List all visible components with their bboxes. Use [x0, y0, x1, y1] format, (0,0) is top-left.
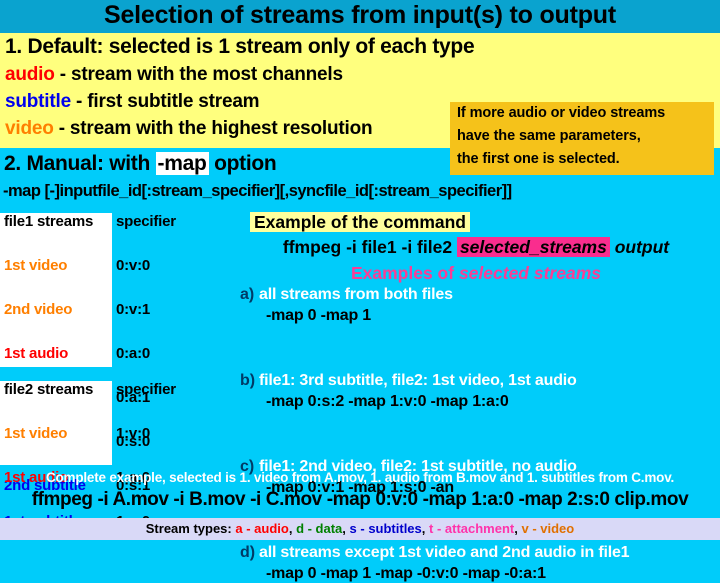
- keyword-subtitle: subtitle: [5, 91, 71, 112]
- file2-header-name: file2 streams: [4, 381, 93, 398]
- example-a-desc: all streams from both files: [259, 286, 453, 304]
- default-rule-subtitle: subtitle - first subtitle stream: [5, 91, 259, 113]
- tie-break-note-line-2: have the same parameters,: [457, 128, 641, 144]
- tie-break-note-line-1: If more audio or video streams: [457, 105, 665, 121]
- legend-sep-1: ,: [289, 521, 296, 536]
- slide-root: Selection of streams from input(s) to ou…: [0, 0, 720, 540]
- page-title: Selection of streams from input(s) to ou…: [0, 1, 720, 30]
- stream-types-legend: Stream types: a - audio, d - data, s - s…: [0, 518, 720, 540]
- file1-row-2-name: 1st audio: [4, 345, 68, 362]
- example-d-letter: d): [240, 544, 255, 562]
- default-rule-audio-text: - stream with the most channels: [55, 64, 343, 85]
- example-a-letter: a): [240, 286, 254, 304]
- file1-row-0-name: 1st video: [4, 257, 67, 274]
- example-d-desc: all streams except 1st video and 2nd aud…: [259, 544, 629, 562]
- manual-heading: 2. Manual: with -map option: [4, 152, 276, 176]
- legend-label: Stream types:: [146, 521, 232, 536]
- example-b-desc: file1: 3rd subtitle, file2: 1st video, 1…: [259, 372, 577, 390]
- example-b-map: -map 0:s:2 -map 1:v:0 -map 1:a:0: [266, 393, 509, 411]
- default-rule-audio: audio - stream with the most channels: [5, 64, 343, 86]
- legend-sep-2: ,: [342, 521, 349, 536]
- legend-item-video: v - video: [521, 521, 574, 536]
- keyword-audio: audio: [5, 64, 55, 85]
- manual-heading-post: option: [209, 152, 277, 175]
- default-heading: 1. Default: selected is 1 stream only of…: [5, 35, 474, 59]
- file1-row-1-spec: 0:v:1: [116, 301, 150, 318]
- example-a-map: -map 0 -map 1: [266, 307, 371, 325]
- legend-item-attachment: t - attachment: [429, 521, 514, 536]
- legend-item-data: d - data: [296, 521, 342, 536]
- complete-example-command: ffmpeg -i A.mov -i B.mov -i C.mov -map 0…: [0, 489, 720, 511]
- examples-subtitle: Examples of selected streams: [232, 263, 720, 284]
- manual-heading-pre: 2. Manual: with: [4, 152, 156, 175]
- keyword-video: video: [5, 118, 54, 139]
- file1-row-0-spec: 0:v:0: [116, 257, 150, 274]
- file2-row-0-spec: 1:v:0: [116, 425, 150, 442]
- example-command-pre: ffmpeg -i file1 -i file2: [283, 237, 457, 257]
- example-command-title-text: Example of the command: [250, 212, 470, 232]
- file2-header-specifier: specifier: [116, 381, 176, 398]
- default-section: 1. Default: selected is 1 stream only of…: [0, 33, 720, 148]
- tie-break-note-box: If more audio or video streams have the …: [450, 102, 714, 175]
- selected-streams-highlight: selected_streams: [457, 237, 610, 257]
- example-command-title: Example of the command: [0, 212, 720, 233]
- stream-types-legend-text: Stream types: a - audio, d - data, s - s…: [0, 521, 720, 536]
- title-bar: Selection of streams from input(s) to ou…: [0, 0, 720, 33]
- example-d-map: -map 0 -map 1 -map -0:v:0 -map -0:a:1: [266, 565, 546, 583]
- example-command-line: ffmpeg -i file1 -i file2 selected_stream…: [232, 237, 720, 258]
- legend-item-audio: a - audio: [235, 521, 288, 536]
- examples-subtitle-italic: selected streams: [459, 263, 601, 283]
- examples-subtitle-pre: Examples of: [351, 263, 459, 283]
- example-command-post: output: [610, 237, 669, 257]
- complete-example-note: Complete example, selected is 1. video f…: [0, 470, 720, 485]
- file1-name-column-bg: [0, 213, 112, 367]
- map-option-highlight: -map: [156, 152, 209, 175]
- file1-row-2-spec: 0:a:0: [116, 345, 150, 362]
- legend-item-subtitles: s - subtitles: [350, 521, 422, 536]
- map-syntax: -map [-]inputfile_id[:stream_specifier][…: [3, 182, 512, 201]
- default-rule-video: video - stream with the highest resoluti…: [5, 118, 372, 140]
- tie-break-note-line-3: the first one is selected.: [457, 151, 620, 167]
- file1-row-1-name: 2nd video: [4, 301, 72, 318]
- legend-sep-3: ,: [422, 521, 429, 536]
- example-b-letter: b): [240, 372, 255, 390]
- file2-row-0-name: 1st video: [4, 425, 67, 442]
- default-rule-subtitle-text: - first subtitle stream: [71, 91, 259, 112]
- default-rule-video-text: - stream with the highest resolution: [54, 118, 373, 139]
